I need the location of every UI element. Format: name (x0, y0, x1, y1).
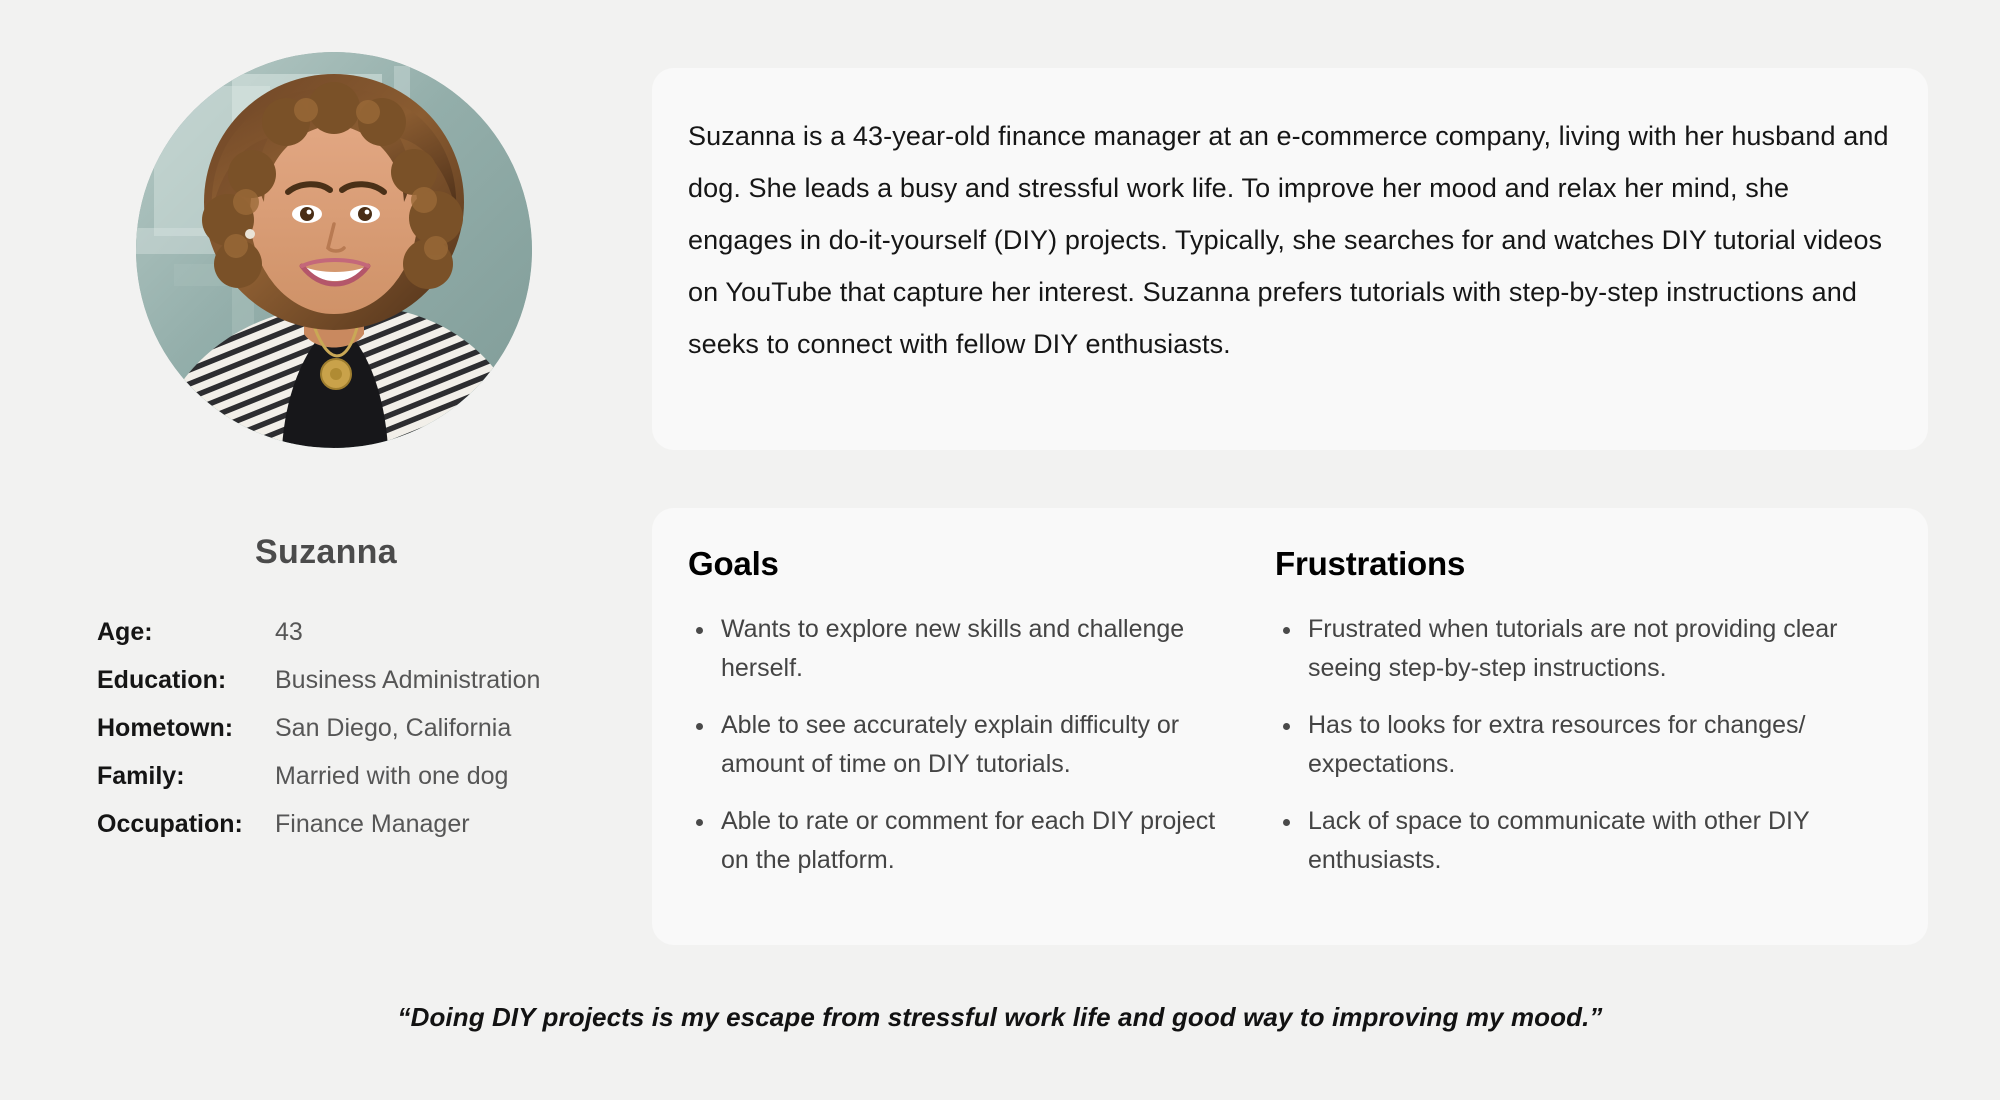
goals-heading: Goals (688, 545, 1248, 583)
list-item: Lack of space to communicate with other … (1275, 802, 1875, 880)
portrait-photo-icon (136, 52, 532, 448)
list-item-text: Able to rate or comment for each DIY pro… (721, 807, 1215, 874)
attribute-value: Married with one dog (275, 762, 508, 791)
bullet-icon (1283, 627, 1290, 634)
attribute-row-education: Education: Business Administration (97, 666, 637, 714)
goals-frustrations-card: Goals Wants to explore new skills and ch… (652, 508, 1928, 945)
bio-card: Suzanna is a 43-year-old finance manager… (652, 68, 1928, 450)
attribute-row-family: Family: Married with one dog (97, 762, 637, 810)
list-item: Frustrated when tutorials are not provid… (1275, 610, 1875, 688)
attribute-label: Hometown: (97, 714, 275, 743)
list-item: Able to rate or comment for each DIY pro… (688, 802, 1248, 880)
list-item: Able to see accurately explain difficult… (688, 706, 1248, 784)
list-item-text: Lack of space to communicate with other … (1308, 807, 1809, 874)
persona-quote: “Doing DIY projects is my escape from st… (0, 1002, 2000, 1033)
persona-card-page: Suzanna Age: 43 Education: Business Admi… (0, 0, 2000, 1100)
attribute-value: 43 (275, 618, 303, 647)
bullet-icon (1283, 819, 1290, 826)
bullet-icon (1283, 723, 1290, 730)
attribute-label: Family: (97, 762, 275, 791)
list-item: Wants to explore new skills and challeng… (688, 610, 1248, 688)
attribute-label: Age: (97, 618, 275, 647)
bio-text: Suzanna is a 43-year-old finance manager… (688, 110, 1893, 370)
attribute-row-hometown: Hometown: San Diego, California (97, 714, 637, 762)
goals-list: Wants to explore new skills and challeng… (688, 610, 1248, 880)
list-item: Has to looks for extra resources for cha… (1275, 706, 1875, 784)
attribute-label: Occupation: (97, 810, 275, 839)
frustrations-heading: Frustrations (1275, 545, 1875, 583)
attribute-row-age: Age: 43 (97, 618, 637, 666)
profile-column: Suzanna Age: 43 Education: Business Admi… (0, 0, 652, 1100)
frustrations-section: Frustrations Frustrated when tutorials a… (1275, 545, 1875, 880)
persona-name: Suzanna (0, 533, 652, 572)
attribute-list: Age: 43 Education: Business Administrati… (97, 618, 637, 858)
attribute-value: San Diego, California (275, 714, 511, 743)
frustrations-list: Frustrated when tutorials are not provid… (1275, 610, 1875, 880)
goals-section: Goals Wants to explore new skills and ch… (688, 545, 1248, 880)
list-item-text: Has to looks for extra resources for cha… (1308, 711, 1805, 778)
attribute-label: Education: (97, 666, 275, 695)
bullet-icon (696, 723, 703, 730)
attribute-row-occupation: Occupation: Finance Manager (97, 810, 637, 858)
list-item-text: Wants to explore new skills and challeng… (721, 615, 1184, 682)
avatar (136, 52, 532, 448)
list-item-text: Frustrated when tutorials are not provid… (1308, 615, 1837, 682)
list-item-text: Able to see accurately explain difficult… (721, 711, 1179, 778)
bullet-icon (696, 819, 703, 826)
bullet-icon (696, 627, 703, 634)
attribute-value: Business Administration (275, 666, 540, 695)
attribute-value: Finance Manager (275, 810, 470, 839)
